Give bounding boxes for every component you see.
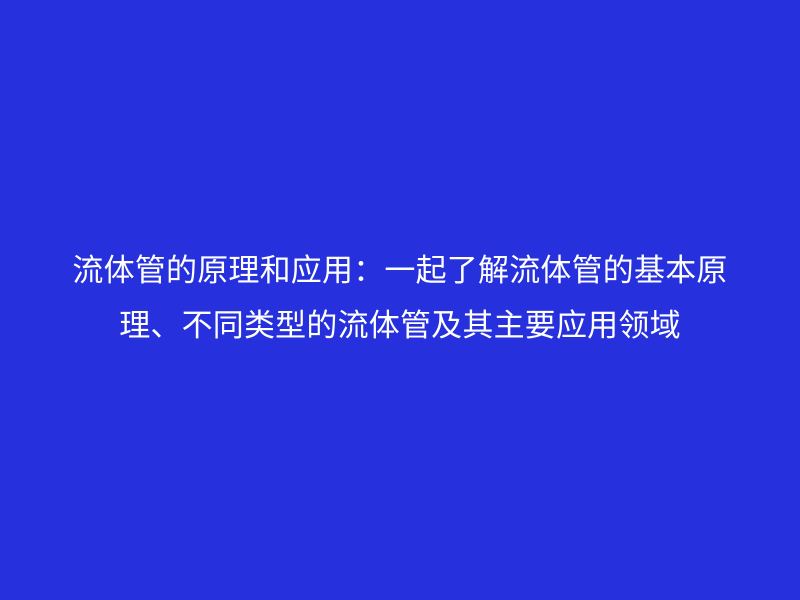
page-title: 流体管的原理和应用：一起了解流体管的基本原理、不同类型的流体管及其主要应用领域 bbox=[50, 244, 750, 354]
slide-canvas: 流体管的原理和应用：一起了解流体管的基本原理、不同类型的流体管及其主要应用领域 bbox=[0, 0, 800, 600]
title-block: 流体管的原理和应用：一起了解流体管的基本原理、不同类型的流体管及其主要应用领域 bbox=[50, 244, 750, 354]
